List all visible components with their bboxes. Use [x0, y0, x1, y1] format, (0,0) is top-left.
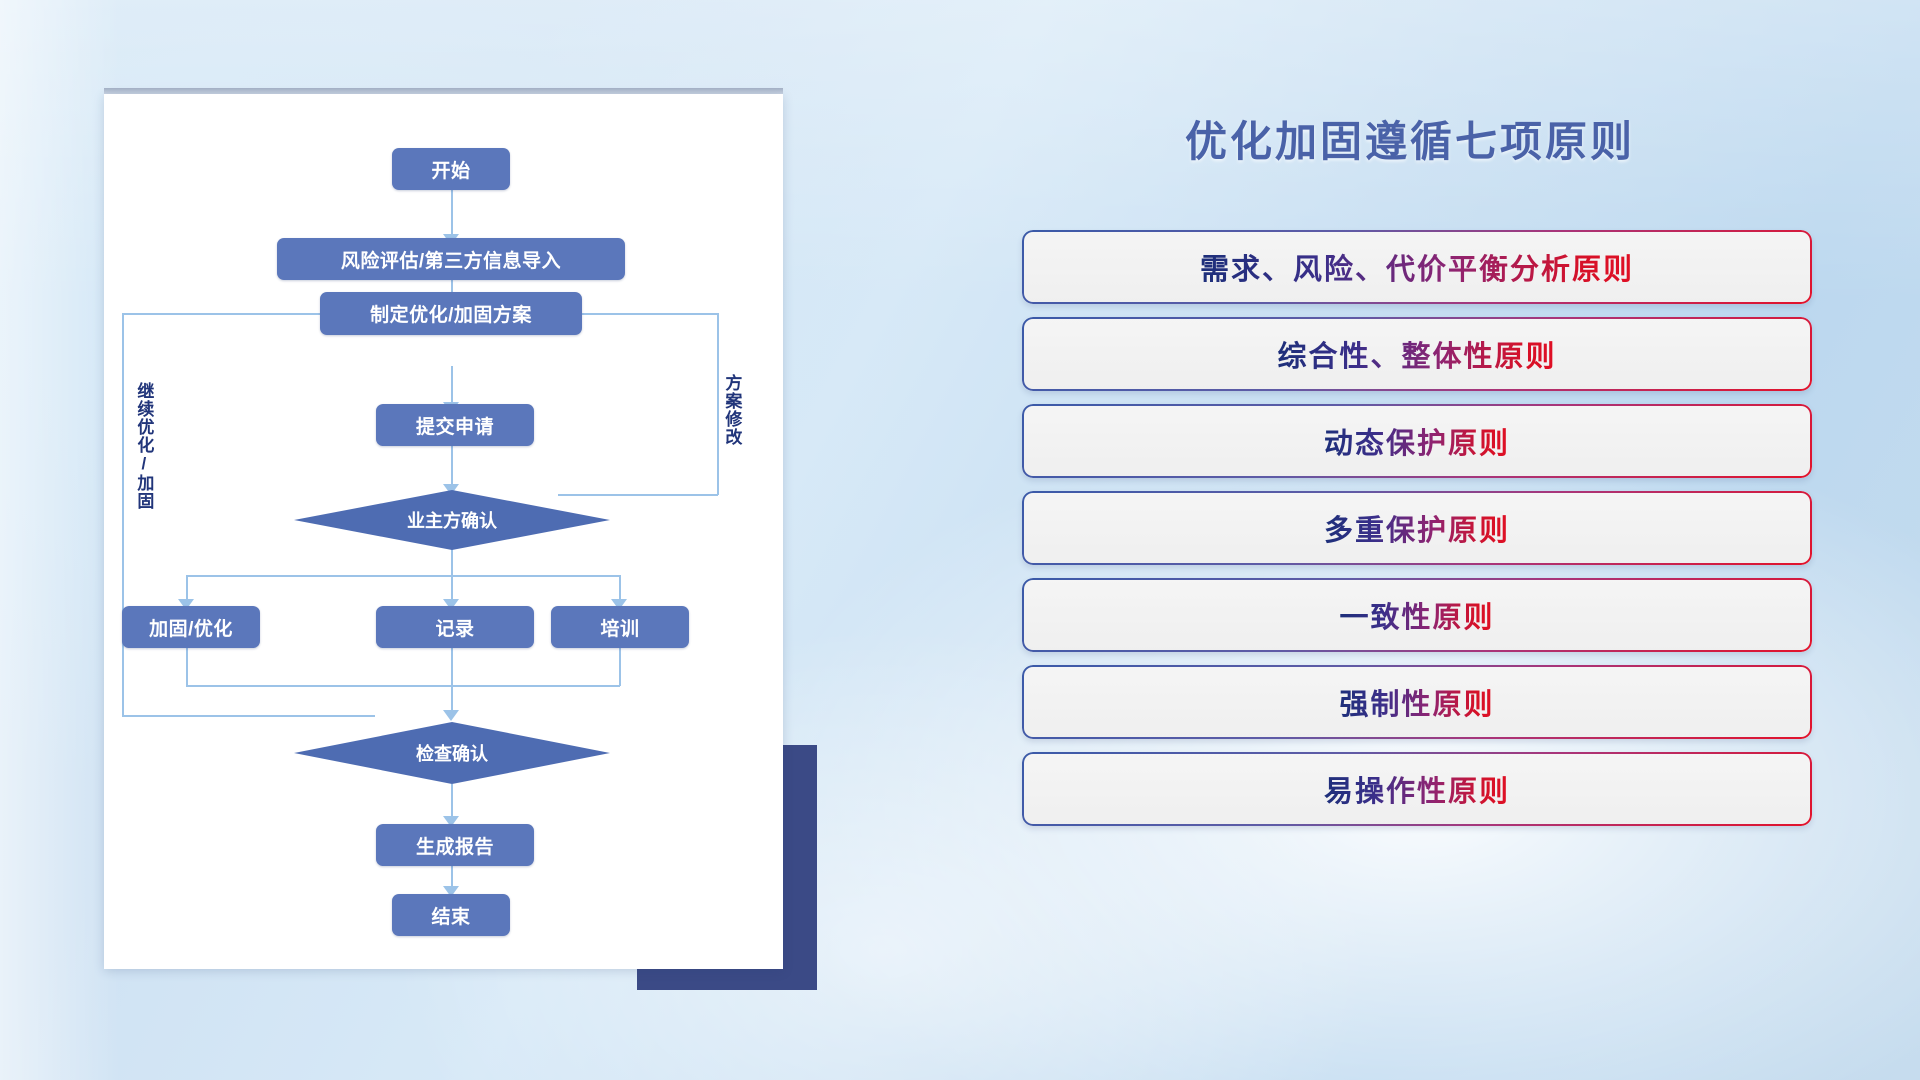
list-item[interactable]: 多重保护原则	[1022, 491, 1812, 565]
principle-label: 一致性原则	[1339, 594, 1494, 636]
edge-owner-down	[451, 546, 453, 576]
flow-node-plan[interactable]: 制定优化/加固方案	[320, 292, 582, 335]
list-item[interactable]: 动态保护原则	[1022, 404, 1812, 478]
flow-node-submit[interactable]: 提交申请	[376, 404, 534, 446]
page-title: 优化加固遵循七项原则	[1030, 108, 1790, 169]
edge-reinforce-down	[186, 648, 188, 686]
principle-label: 需求、风险、代价平衡分析原则	[1200, 246, 1634, 288]
flow-node-end[interactable]: 结束	[392, 894, 510, 936]
principle-label: 动态保护原则	[1324, 420, 1510, 462]
principle-label: 强制性原则	[1339, 681, 1494, 723]
arrowhead-to-check	[443, 710, 459, 721]
edge-owner-fanout	[186, 575, 620, 577]
flow-node-start[interactable]: 开始	[392, 148, 510, 190]
principle-label: 综合性、整体性原则	[1277, 333, 1556, 375]
edge-training-down	[619, 648, 621, 686]
flow-label-left: 继续优化/加固	[134, 382, 152, 552]
edge-record-down	[451, 648, 453, 718]
flow-node-owner-confirm[interactable]: 业主方确认	[294, 490, 610, 550]
principle-label: 易操作性原则	[1324, 768, 1510, 810]
list-item[interactable]: 一致性原则	[1022, 578, 1812, 652]
flow-node-risk-assessment[interactable]: 风险评估/第三方信息导入	[277, 238, 625, 280]
list-item[interactable]: 易操作性原则	[1022, 752, 1812, 826]
background-light-band	[0, 0, 120, 1080]
flow-node-report[interactable]: 生成报告	[376, 824, 534, 866]
flow-node-reinforce[interactable]: 加固/优化	[122, 606, 260, 648]
edge-owner-right-up	[717, 313, 719, 495]
flow-node-record[interactable]: 记录	[376, 606, 534, 648]
list-item[interactable]: 强制性原则	[1022, 665, 1812, 739]
edge-left-loop-to-plan	[122, 313, 351, 315]
flow-node-training[interactable]: 培训	[551, 606, 689, 648]
flow-node-owner-confirm-label: 业主方确认	[407, 507, 497, 533]
list-item[interactable]: 需求、风险、代价平衡分析原则	[1022, 230, 1812, 304]
list-item[interactable]: 综合性、整体性原则	[1022, 317, 1812, 391]
edge-left-loop-vertical	[122, 313, 124, 717]
flow-node-check-confirm[interactable]: 检查确认	[294, 722, 610, 784]
flow-node-check-confirm-label: 检查确认	[416, 740, 488, 766]
flowchart-card: 继续优化/加固 方案修改 开始 风险评估/第三方信息导入 制定优化/加固方案 提…	[104, 94, 783, 969]
edge-merge-to-check	[186, 685, 620, 687]
edge-check-to-left-loop	[122, 715, 375, 717]
flow-label-right: 方案修改	[722, 374, 740, 504]
principle-label: 多重保护原则	[1324, 507, 1510, 549]
principles-list: 需求、风险、代价平衡分析原则 综合性、整体性原则 动态保护原则 多重保护原则 一…	[1022, 230, 1812, 839]
